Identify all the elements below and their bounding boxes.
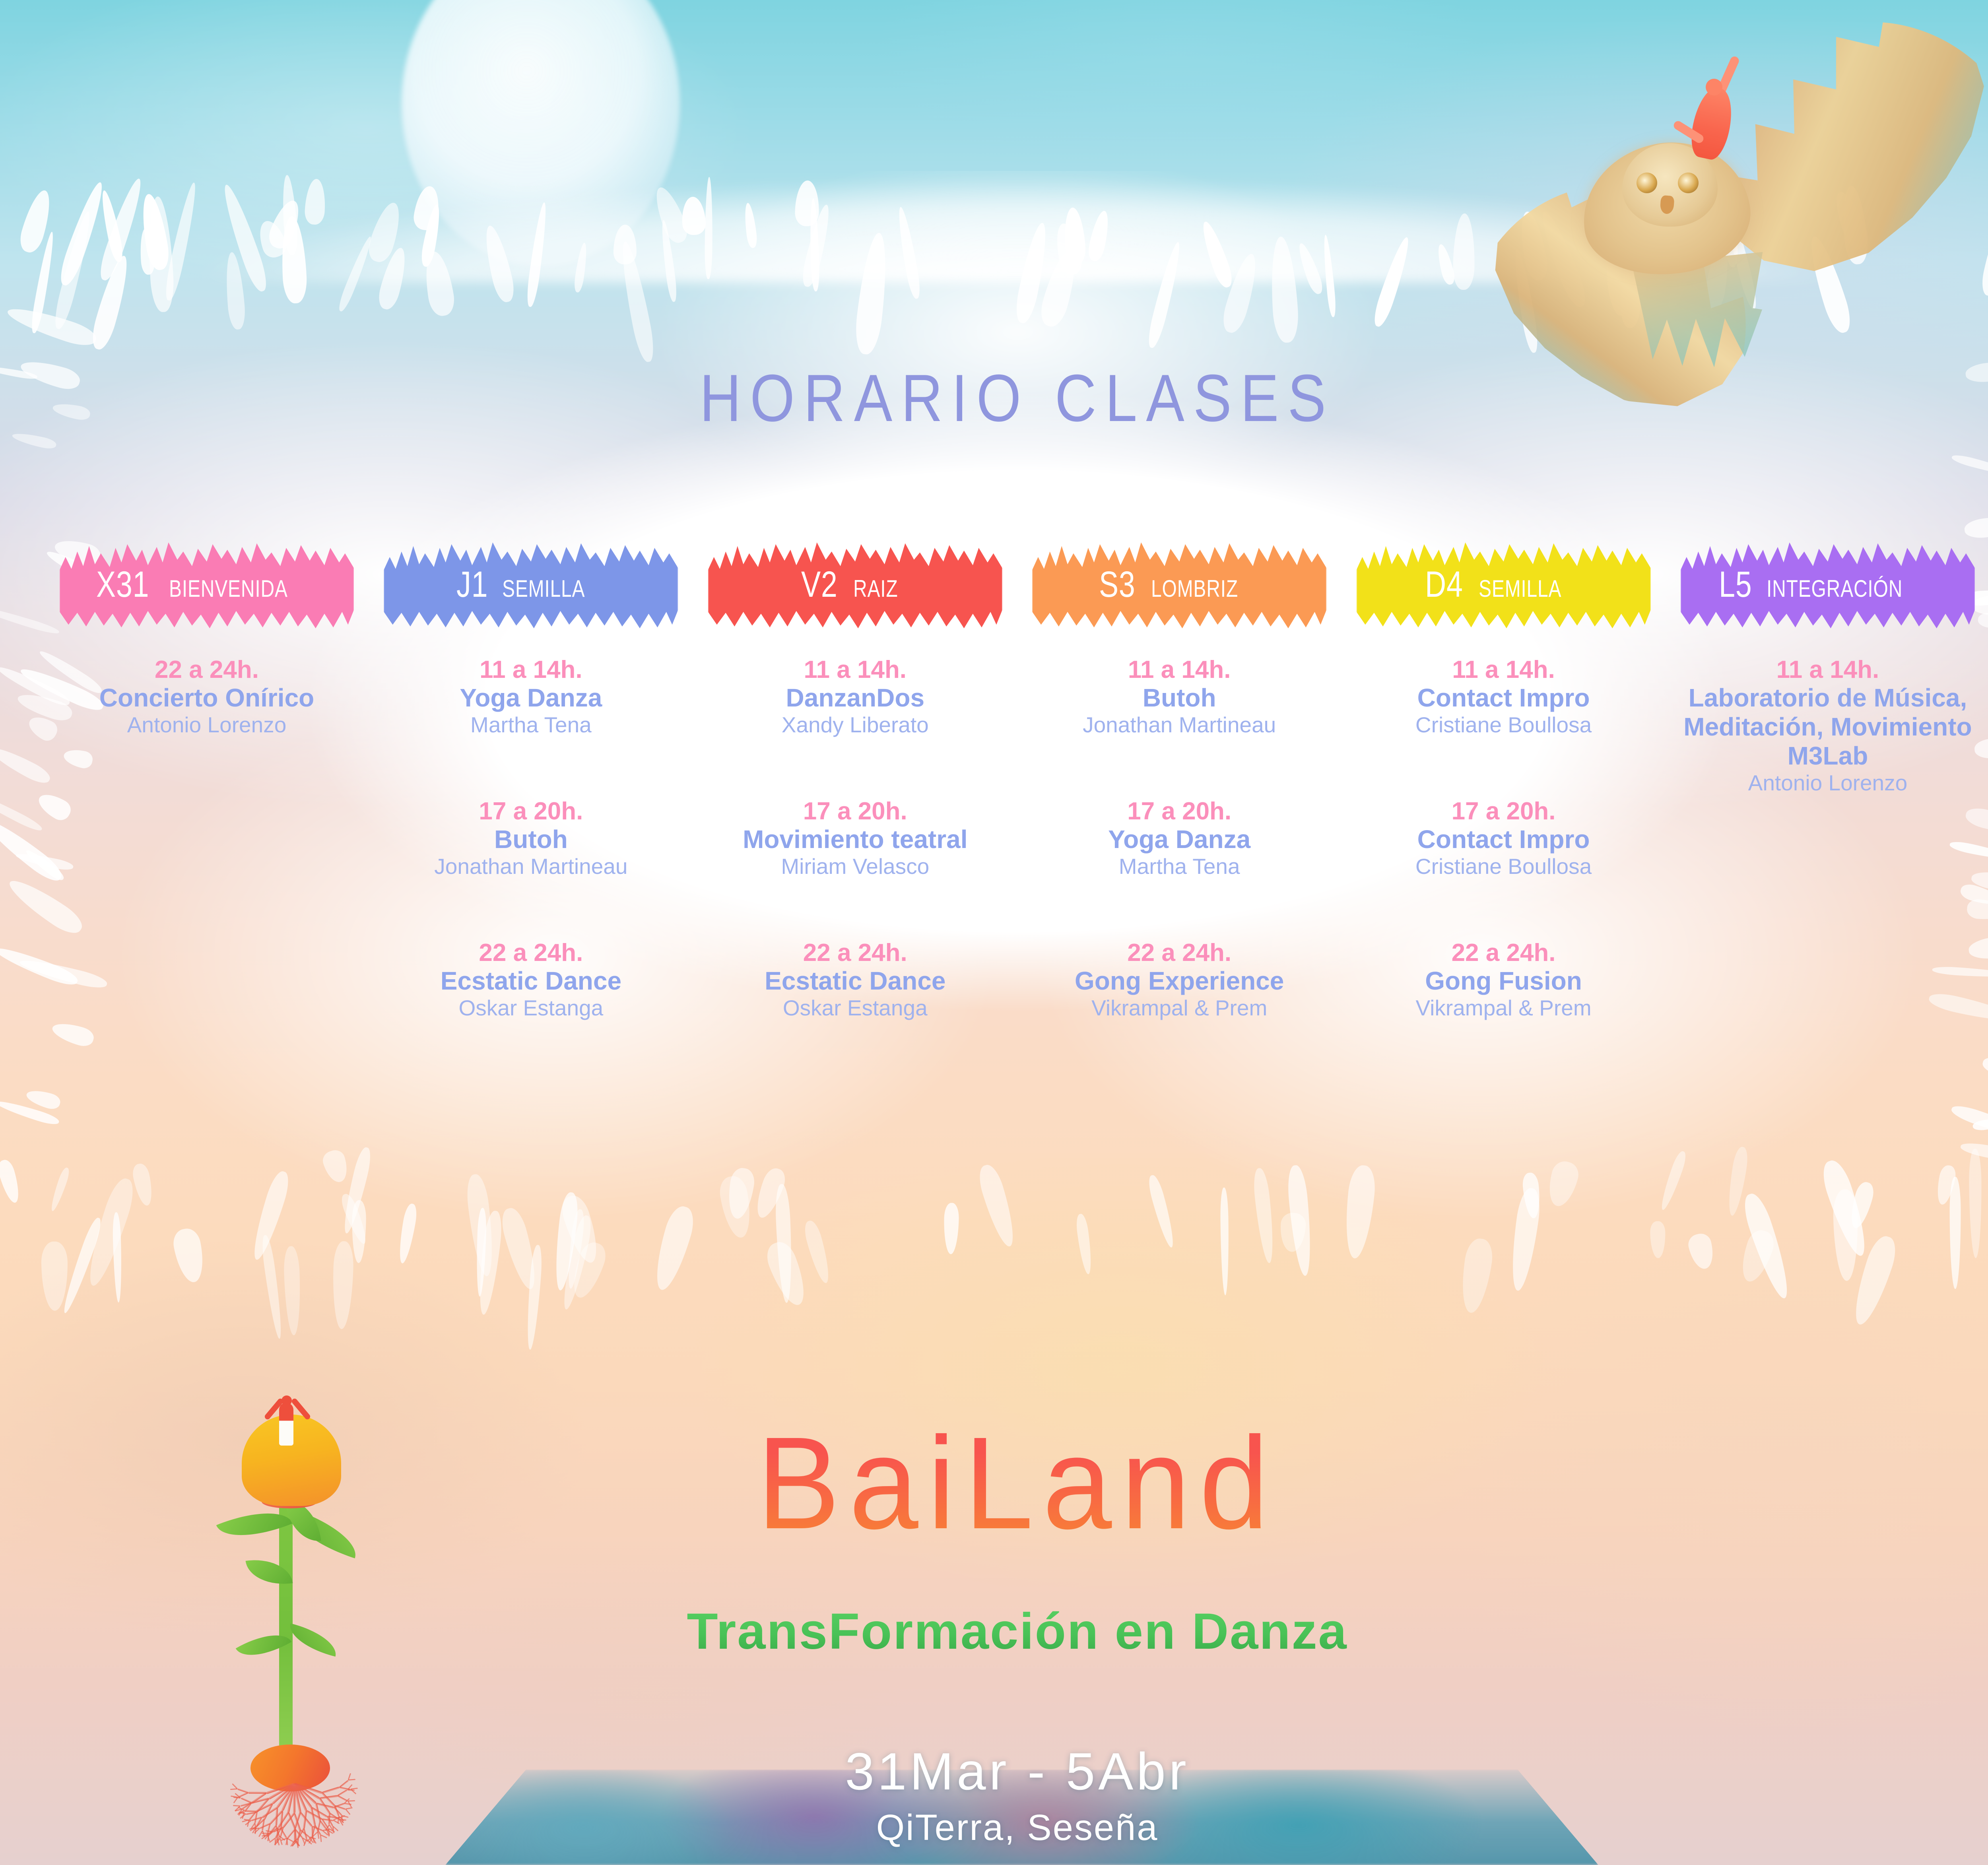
day-code: V2: [801, 564, 838, 605]
class-teacher: Oskar Estanga: [384, 996, 678, 1021]
class-name: DanzanDos: [708, 683, 1002, 712]
brand-name: BaiLand: [51, 1407, 1984, 1558]
class-time: 11 a 14h.: [384, 656, 678, 683]
class-time: 22 a 24h.: [384, 939, 678, 966]
class-name: Butoh: [384, 825, 678, 854]
class-slot[interactable]: 22 a 24h.Ecstatic DanceOskar Estanga: [708, 939, 1002, 1058]
day-header-v2[interactable]: V2RAIZ: [708, 539, 1002, 630]
day-code: L5: [1719, 564, 1752, 605]
class-slot[interactable]: 11 a 14h.ButohJonathan Martineau: [1032, 656, 1326, 775]
day-header-d4[interactable]: D4SEMILLA: [1357, 539, 1651, 630]
day-header-label: V2RAIZ: [801, 564, 909, 605]
class-name: Yoga Danza: [384, 683, 678, 712]
class-teacher: Martha Tena: [1032, 854, 1326, 879]
day-header-label: S3LOMBRIZ: [1099, 564, 1260, 605]
day-code: S3: [1099, 564, 1136, 605]
day-theme: SEMILLA: [502, 575, 585, 602]
class-teacher: Oskar Estanga: [708, 996, 1002, 1021]
class-teacher: Jonathan Martineau: [384, 854, 678, 879]
class-time: 22 a 24h.: [1032, 939, 1326, 966]
class-time: 22 a 24h.: [60, 656, 354, 683]
day-header-label: J1SEMILLA: [456, 564, 606, 605]
class-teacher: Jonathan Martineau: [1032, 712, 1326, 737]
class-teacher: Xandy Liberato: [708, 712, 1002, 737]
class-time: 11 a 14h.: [1032, 656, 1326, 683]
day-theme: BIENVENIDA: [169, 575, 288, 602]
page-title: HORARIO CLASES: [142, 360, 1892, 437]
event-venue: QiTerra, Seseña: [0, 1807, 1988, 1849]
class-teacher: Antonio Lorenzo: [1681, 770, 1975, 796]
class-name: Gong Fusion: [1357, 966, 1651, 996]
class-name: Contact Impro: [1357, 825, 1651, 854]
class-slot[interactable]: 17 a 20h.ButohJonathan Martineau: [384, 798, 678, 917]
class-teacher: Antonio Lorenzo: [60, 712, 354, 737]
day-header-row: X31BIENVENIDAJ1SEMILLAV2RAIZS3LOMBRIZD4S…: [0, 539, 1988, 630]
class-teacher: Vikrampal & Prem: [1357, 996, 1651, 1021]
class-slot[interactable]: 17 a 20h.Contact ImproCristiane Boullosa: [1357, 798, 1651, 917]
class-name: Laboratorio de Música, Meditación, Movim…: [1681, 683, 1975, 770]
class-slot[interactable]: 17 a 20h.Yoga DanzaMartha Tena: [1032, 798, 1326, 917]
class-slot[interactable]: 22 a 24h.Gong FusionVikrampal & Prem: [1357, 939, 1651, 1058]
class-time: 11 a 14h.: [1357, 656, 1651, 683]
schedule-column-v2: 11 a 14h.DanzanDosXandy Liberato17 a 20h…: [708, 656, 1002, 1101]
class-name: Yoga Danza: [1032, 825, 1326, 854]
class-time: 17 a 20h.: [384, 798, 678, 825]
day-theme: LOMBRIZ: [1151, 575, 1238, 602]
schedule-column-s3: 11 a 14h.ButohJonathan Martineau17 a 20h…: [1032, 656, 1326, 1101]
schedule-column-x31: 22 a 24h.Concierto OníricoAntonio Lorenz…: [60, 656, 354, 1101]
brand-tagline: TransFormación en Danza: [0, 1602, 1988, 1661]
class-teacher: Cristiane Boullosa: [1357, 712, 1651, 737]
class-slot[interactable]: 11 a 14h.Laboratorio de Música, Meditaci…: [1681, 656, 1975, 796]
class-name: Movimiento teatral: [708, 825, 1002, 854]
class-time: 11 a 14h.: [1681, 656, 1975, 683]
day-theme: RAIZ: [853, 575, 898, 602]
schedule-column-d4: 11 a 14h.Contact ImproCristiane Boullosa…: [1357, 656, 1651, 1101]
class-slot[interactable]: 11 a 14h.Yoga DanzaMartha Tena: [384, 656, 678, 775]
schedule-grid: 22 a 24h.Concierto OníricoAntonio Lorenz…: [60, 656, 1975, 1101]
day-code: X31: [96, 564, 149, 605]
class-time: 17 a 20h.: [708, 798, 1002, 825]
day-header-label: D4SEMILLA: [1425, 564, 1582, 605]
class-slot[interactable]: 11 a 14h.Contact ImproCristiane Boullosa: [1357, 656, 1651, 775]
day-header-l5[interactable]: L5INTEGRACIÓN: [1681, 539, 1975, 630]
class-time: 22 a 24h.: [1357, 939, 1651, 966]
class-slot[interactable]: 22 a 24h.Ecstatic DanceOskar Estanga: [384, 939, 678, 1058]
schedule-column-l5: 11 a 14h.Laboratorio de Música, Meditaci…: [1681, 656, 1975, 1101]
day-header-label: L5INTEGRACIÓN: [1719, 564, 1937, 605]
day-header-j1[interactable]: J1SEMILLA: [384, 539, 678, 630]
class-time: 17 a 20h.: [1032, 798, 1326, 825]
day-header-label: X31BIENVENIDA: [96, 564, 317, 605]
class-name: Concierto Onírico: [60, 683, 354, 712]
class-teacher: Cristiane Boullosa: [1357, 854, 1651, 879]
event-dates: 31Mar - 5Abr: [0, 1741, 1988, 1801]
class-slot[interactable]: 22 a 24h.Concierto OníricoAntonio Lorenz…: [60, 656, 354, 775]
day-header-s3[interactable]: S3LOMBRIZ: [1032, 539, 1326, 630]
day-theme: INTEGRACIÓN: [1767, 575, 1903, 602]
class-name: Contact Impro: [1357, 683, 1651, 712]
poster-content: HORARIO CLASES X31BIENVENIDAJ1SEMILLAV2R…: [0, 0, 1988, 1865]
class-teacher: Vikrampal & Prem: [1032, 996, 1326, 1021]
class-name: Butoh: [1032, 683, 1326, 712]
day-code: D4: [1425, 564, 1463, 605]
day-theme: SEMILLA: [1479, 575, 1561, 602]
class-slot[interactable]: 11 a 14h.DanzanDosXandy Liberato: [708, 656, 1002, 775]
day-header-x31[interactable]: X31BIENVENIDA: [60, 539, 354, 630]
class-time: 22 a 24h.: [708, 939, 1002, 966]
schedule-column-j1: 11 a 14h.Yoga DanzaMartha Tena17 a 20h.B…: [384, 656, 678, 1101]
class-name: Gong Experience: [1032, 966, 1326, 996]
day-code: J1: [456, 564, 488, 605]
class-teacher: Martha Tena: [384, 712, 678, 737]
class-time: 11 a 14h.: [708, 656, 1002, 683]
class-slot[interactable]: 22 a 24h.Gong ExperienceVikrampal & Prem: [1032, 939, 1326, 1058]
class-name: Ecstatic Dance: [708, 966, 1002, 996]
class-name: Ecstatic Dance: [384, 966, 678, 996]
class-teacher: Miriam Velasco: [708, 854, 1002, 879]
class-time: 17 a 20h.: [1357, 798, 1651, 825]
class-slot[interactable]: 17 a 20h.Movimiento teatralMiriam Velasc…: [708, 798, 1002, 917]
